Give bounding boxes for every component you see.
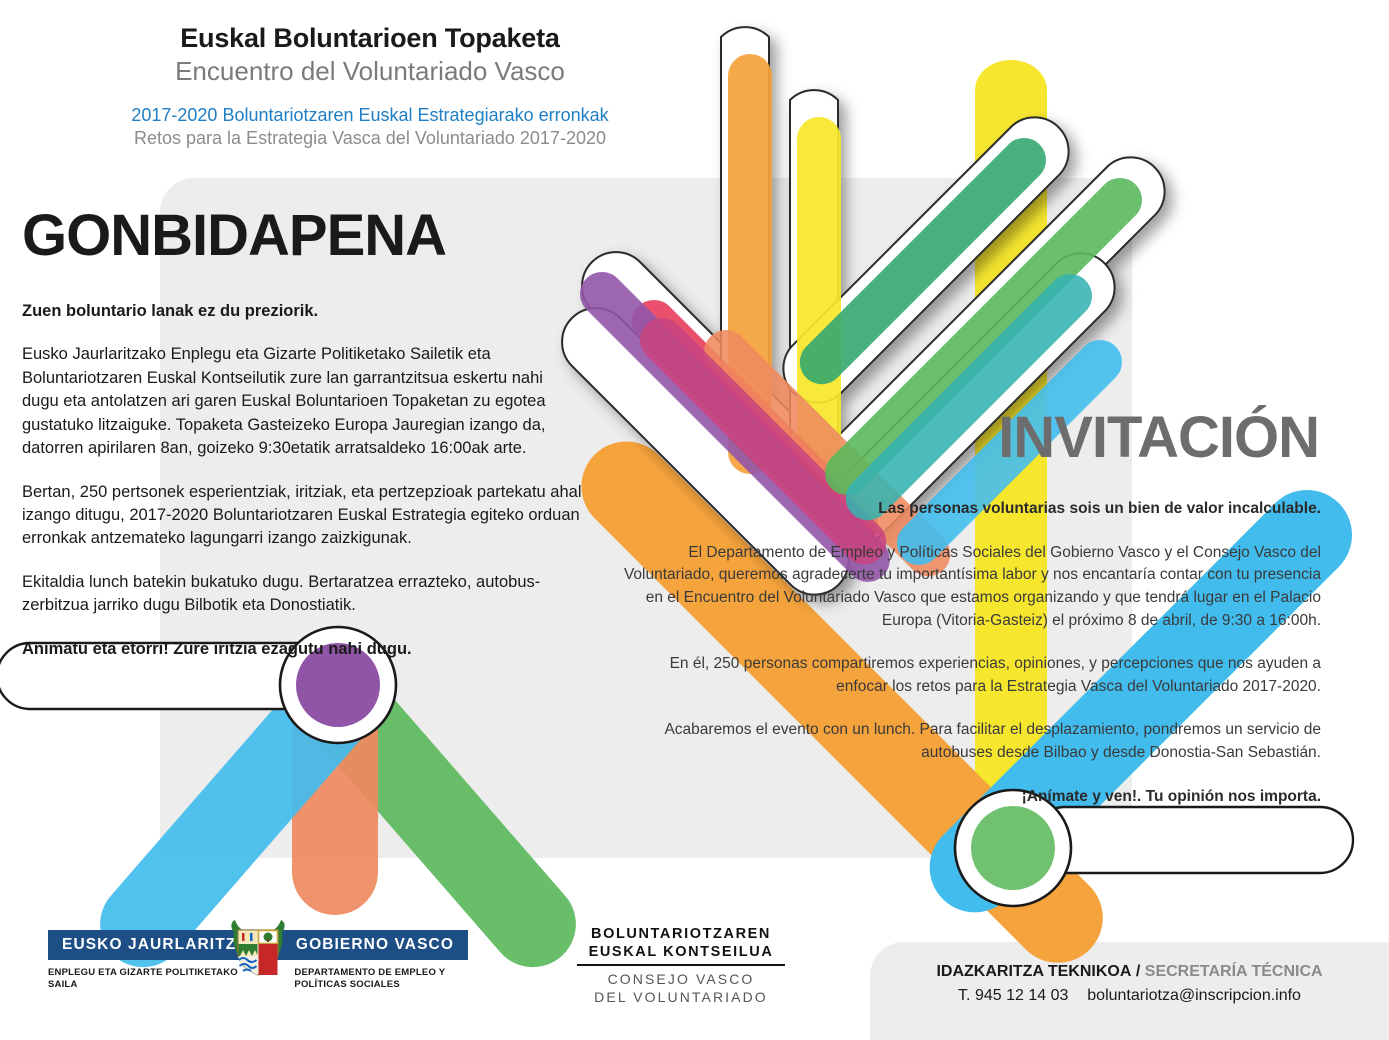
cvv-es-line2: DEL VOLUNTARIADO	[571, 988, 791, 1006]
gv-caption-eu: ENPLEGU ETA GIZARTE POLITIKETAKO SAILA	[48, 967, 250, 992]
basque-paragraph-2: Bertan, 250 pertsonek esperientziak, iri…	[22, 481, 582, 551]
gv-blue-bar: EUSKO JAURLARITZA GOBIERNO VASCO	[48, 930, 468, 960]
cvv-divider	[577, 964, 785, 966]
spanish-paragraph-2: En él, 250 personas compartiremos experi…	[621, 653, 1321, 698]
poster-header: Euskal Boluntarioen Topaketa Encuentro d…	[0, 22, 740, 150]
basque-paragraph-1: Eusko Jaurlaritzako Enplegu eta Gizarte …	[22, 343, 582, 460]
basque-coat-of-arms-icon	[228, 914, 288, 980]
header-title-es: Encuentro del Voluntariado Vasco	[0, 56, 740, 88]
secretariat-phone: T. 945 12 14 03	[958, 987, 1068, 1004]
header-title-eu: Euskal Boluntarioen Topaketa	[0, 22, 740, 55]
spanish-body: Las personas voluntarias sois un bien de…	[621, 498, 1321, 808]
heading-invitacion: INVITACIÓN	[998, 404, 1319, 471]
spanish-lead: Las personas voluntarias sois un bien de…	[621, 498, 1321, 521]
gv-label-es: GOBIERNO VASCO	[296, 936, 468, 954]
invitation-poster: Euskal Boluntarioen Topaketa Encuentro d…	[0, 0, 1389, 1040]
technical-secretariat: IDAZKARITZA TEKNIKOA / SECRETARÍA TÉCNIC…	[870, 960, 1389, 1008]
secretariat-labels: IDAZKARITZA TEKNIKOA / SECRETARÍA TÉCNIC…	[870, 960, 1389, 984]
basque-paragraph-3: Ekitaldia lunch batekin bukatuko dugu. B…	[22, 571, 582, 618]
secretariat-email[interactable]: boluntariotza@inscripcion.info	[1087, 987, 1301, 1004]
gv-label-eu: EUSKO JAURLARITZA	[48, 936, 249, 954]
basque-closing: Animatu eta etorri! Zure iritzia ezagutu…	[22, 638, 582, 661]
gv-caption-es: DEPARTAMENTO DE EMPLEO Y POLÍTICAS SOCIA…	[266, 967, 468, 992]
cvv-es-line1: CONSEJO VASCO	[571, 970, 791, 988]
secretariat-label-eu: IDAZKARITZA TEKNIKOA	[936, 963, 1131, 980]
heading-gonbidapena: GONBIDAPENA	[22, 202, 446, 269]
basque-lead: Zuen boluntario lanak ez du preziorik.	[22, 300, 582, 323]
basque-body: Zuen boluntario lanak ez du preziorik. E…	[22, 300, 582, 661]
spanish-closing: ¡Anímate y ven!. Tu opinión nos importa.	[621, 786, 1321, 809]
header-subtitle-eu: 2017-2020 Boluntariotzaren Euskal Estrat…	[0, 104, 740, 127]
cvv-eu-line2: EUSKAL KONTSEILUA	[571, 943, 791, 961]
secretariat-separator: /	[1136, 963, 1140, 980]
header-subtitle-es: Retos para la Estrategia Vasca del Volun…	[0, 127, 740, 150]
spanish-paragraph-1: El Departamento de Empleo y Políticas So…	[621, 542, 1321, 633]
secretariat-label-es: SECRETARÍA TÉCNICA	[1145, 963, 1323, 980]
logo-consejo-vasco-voluntariado: BOLUNTARIOTZAREN EUSKAL KONTSEILUA CONSE…	[571, 925, 791, 1007]
spanish-paragraph-3: Acabaremos el evento con un lunch. Para …	[621, 719, 1321, 764]
secretariat-contact: T. 945 12 14 03 boluntariotza@inscripcio…	[870, 984, 1389, 1008]
logo-gobierno-vasco: EUSKO JAURLARITZA GOBIERNO VASCO	[48, 930, 468, 992]
cvv-eu-line1: BOLUNTARIOTZAREN	[571, 925, 791, 943]
